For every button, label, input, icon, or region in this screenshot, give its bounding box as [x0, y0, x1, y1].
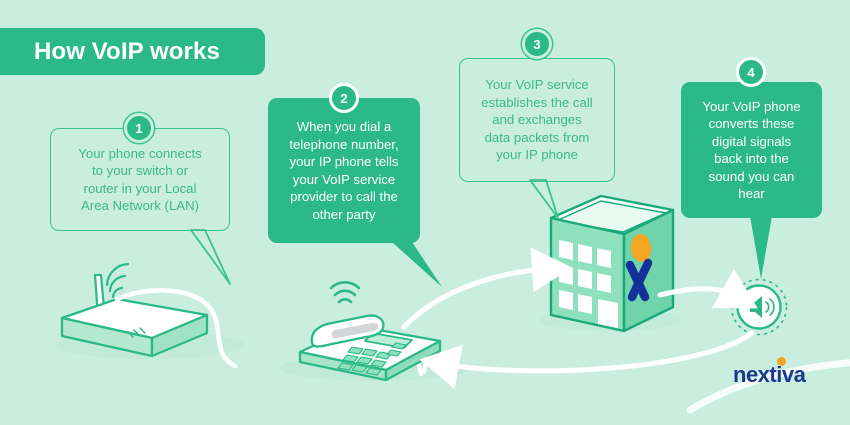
- nextiva-logo: nextiva: [733, 362, 805, 388]
- callout-step-2: When you dial a telephone number, your I…: [268, 98, 420, 243]
- step-badge-3: 3: [522, 29, 552, 59]
- tail-step-4: [750, 216, 772, 279]
- tail-step-1: [191, 230, 230, 284]
- callout-step-3-text: Your VoIP service establishes the call a…: [481, 76, 592, 164]
- step-badge-2-number: 2: [340, 91, 347, 106]
- step-badge-2: 2: [329, 83, 359, 113]
- step-badge-4-number: 4: [747, 65, 754, 80]
- callout-step-1: Your phone connects to your switch or ro…: [50, 128, 230, 231]
- nextiva-logo-dot-icon: [777, 357, 786, 366]
- tail-step-3: [530, 180, 558, 218]
- step-badge-1: 1: [124, 113, 154, 143]
- callout-step-4-text: Your VoIP phone converts these digital s…: [702, 98, 800, 203]
- step-badge-1-number: 1: [135, 121, 142, 136]
- callout-step-3: Your VoIP service establishes the call a…: [459, 58, 615, 182]
- callout-step-2-text: When you dial a telephone number, your I…: [289, 118, 398, 223]
- callout-step-4: Your VoIP phone converts these digital s…: [681, 82, 822, 218]
- nextiva-logo-text: nextiva: [733, 362, 805, 387]
- page-title: How VoIP works: [34, 38, 220, 66]
- callout-step-1-text: Your phone connects to your switch or ro…: [78, 145, 201, 215]
- step-badge-3-number: 3: [533, 37, 540, 52]
- step-badge-4: 4: [736, 57, 766, 87]
- tail-step-2: [392, 242, 442, 287]
- title-banner: How VoIP works: [0, 28, 265, 75]
- infographic-canvas: How VoIP works Your phone connects to yo…: [0, 0, 850, 425]
